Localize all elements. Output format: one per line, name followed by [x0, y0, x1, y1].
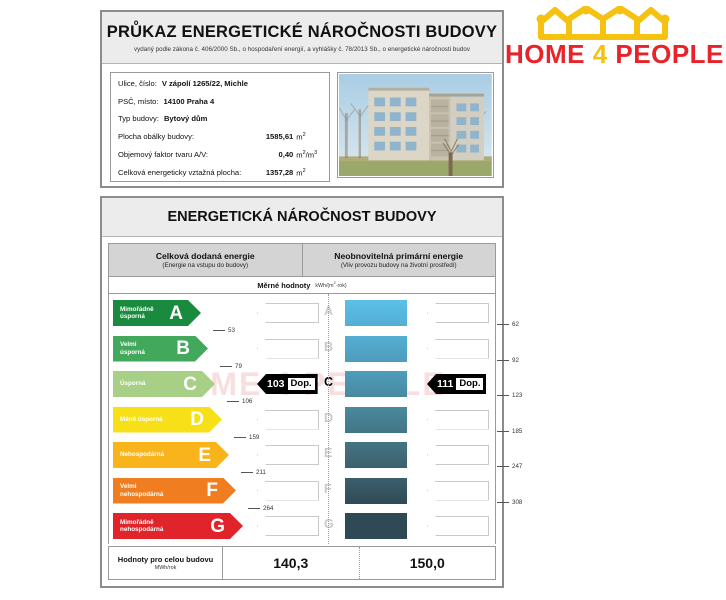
- boundary-tick: [234, 437, 246, 438]
- badge-value: 111: [437, 378, 453, 390]
- detail-row: Celková energeticky vztažná plocha:1357,…: [118, 168, 322, 178]
- boundary-left-1: 79: [220, 363, 242, 370]
- column-header-primary-energy: Neobnovitelná primární energie (Vliv pro…: [302, 243, 497, 277]
- energy-class-row: MimořádněúspornáAA: [109, 300, 495, 326]
- energy-class-label: Velmiúsporná: [113, 341, 176, 355]
- boundary-value: 247: [512, 463, 522, 470]
- boundary-tick: [497, 466, 509, 467]
- energy-class-label: Úsporná: [113, 380, 182, 387]
- brand-text: HOME 4 PEOPLE: [505, 39, 720, 70]
- specific-values-label: Měrné hodnoty: [257, 281, 310, 290]
- brand-logo: HOME 4 PEOPLE: [505, 6, 720, 72]
- result-badge-primary-energy: 111Dop.: [427, 374, 486, 394]
- energy-class-label: Mimořádněnehospodárná: [113, 519, 182, 533]
- detail-unit: m2: [296, 168, 322, 178]
- detail-label: Plocha obálky budovy:: [118, 132, 194, 141]
- boundary-right-2: 123: [497, 392, 522, 399]
- detail-value: 14100 Praha 4: [164, 97, 215, 106]
- footer-label-cell: Hodnoty pro celou budovu MWh/rok: [109, 547, 223, 579]
- boundary-right-1: 92: [497, 357, 519, 364]
- energy-class-label: Mimořádněúsporná: [113, 306, 169, 320]
- brand-prefix: HOME: [505, 39, 593, 69]
- boundary-tick: [497, 324, 509, 325]
- detail-value: 1357,28: [266, 168, 293, 177]
- energy-class-bar-c: ÚspornáC: [113, 371, 215, 397]
- energy-class-letter: A: [169, 304, 201, 323]
- result-slot-left-a: [257, 303, 319, 323]
- brand-suffix: PEOPLE: [608, 39, 724, 69]
- boundary-value: 308: [512, 499, 522, 506]
- energy-class-bar-g: MimořádněnehospodárnáG: [113, 513, 243, 539]
- boundary-value: 159: [249, 434, 259, 441]
- badge-value: 103: [267, 378, 285, 390]
- specific-values-row: Měrné hodnoty kWh/(m2·rok): [108, 277, 496, 294]
- document-title: PRŮKAZ ENERGETICKÉ NÁROČNOSTI BUDOVY: [107, 23, 497, 42]
- footer-value-delivered: 140,3: [223, 547, 360, 579]
- detail-unit: m2/m3: [296, 150, 322, 160]
- building-info-area: Ulice, číslo:V zápolí 1265/22, MichlePSČ…: [102, 64, 502, 188]
- energy-class-letter: F: [206, 481, 236, 500]
- boundary-tick: [241, 472, 253, 473]
- detail-label: Celková energeticky vztažná plocha:: [118, 168, 241, 177]
- energy-class-row: Méně úspornáDD: [109, 407, 495, 433]
- boundary-tick: [497, 431, 509, 432]
- detail-value: V zápolí 1265/22, Michle: [162, 79, 248, 88]
- detail-row: PSČ, místo:14100 Praha 4: [118, 97, 322, 106]
- energy-class-label: Nehospodárná: [113, 451, 182, 458]
- column-heading: Neobnovitelná primární energie: [334, 251, 463, 261]
- energy-panel-title: ENERGETICKÁ NÁROČNOST BUDOVY: [102, 198, 502, 237]
- primary-energy-bar-e: [345, 442, 407, 468]
- boundary-tick: [220, 366, 232, 367]
- boundary-tick: [497, 502, 509, 503]
- result-slot-right-f: [427, 481, 489, 501]
- energy-rating-panel: ENERGETICKÁ NÁROČNOST BUDOVY Celková dod…: [100, 196, 504, 588]
- primary-energy-bar-d: [345, 407, 407, 433]
- boundary-right-3: 185: [497, 428, 522, 435]
- badge-suffix: Dop.: [288, 378, 315, 390]
- result-slot-left-d: [257, 410, 319, 430]
- boundary-left-3: 159: [234, 434, 259, 441]
- energy-class-letter: E: [198, 446, 229, 465]
- result-slot-right-b: [427, 339, 489, 359]
- detail-label: Objemový faktor tvaru A/V:: [118, 150, 208, 159]
- energy-column-headers: Celková dodaná energie (Energie na vstup…: [108, 243, 496, 277]
- boundary-right-5: 308: [497, 499, 522, 506]
- boundary-value: 92: [512, 357, 519, 364]
- detail-label: Typ budovy:: [118, 114, 159, 123]
- energy-class-bar-a: MimořádněúspornáA: [113, 300, 201, 326]
- boundary-value: 264: [263, 505, 273, 512]
- certificate-header-panel: PRŮKAZ ENERGETICKÉ NÁROČNOSTI BUDOVY vyd…: [100, 10, 504, 188]
- boundary-tick: [497, 360, 509, 361]
- detail-value: 1585,61: [266, 132, 293, 141]
- boundary-value: 211: [256, 469, 266, 476]
- result-slot-left-b: [257, 339, 319, 359]
- detail-row: Ulice, číslo:V zápolí 1265/22, Michle: [118, 79, 322, 88]
- energy-class-letter: C: [183, 375, 215, 394]
- column-subheading: (Energie na vstupu do budovy): [162, 262, 248, 269]
- energy-class-letter: G: [210, 517, 243, 536]
- badge-suffix: Dop.: [456, 378, 483, 390]
- boundary-right-4: 247: [497, 463, 522, 470]
- boundary-left-0: 53: [213, 327, 235, 334]
- energy-class-row: NehospodárnáEE: [109, 442, 495, 468]
- primary-energy-bar-c: [345, 371, 407, 397]
- column-heading: Celková dodaná energie: [156, 251, 255, 261]
- detail-label: PSČ, místo:: [118, 97, 159, 106]
- crown-houses-icon: [533, 6, 693, 42]
- energy-class-letter: B: [176, 339, 208, 358]
- detail-label: Ulice, číslo:: [118, 79, 157, 88]
- footer-unit: MWh/rok: [155, 565, 177, 571]
- energy-class-bar-f: VelminehospodárnáF: [113, 478, 236, 504]
- boundary-left-5: 264: [248, 505, 273, 512]
- result-slot-left-e: [257, 445, 319, 465]
- energy-class-bar-b: VelmiúspornáB: [113, 336, 208, 362]
- whole-building-footer: Hodnoty pro celou budovu MWh/rok 140,3 1…: [108, 546, 496, 580]
- detail-row: Typ budovy:Bytový dům: [118, 114, 322, 123]
- column-subheading: (Vliv provozu budovy na životní prostřed…: [341, 262, 457, 269]
- column-header-delivered-energy: Celková dodaná energie (Energie na vstup…: [108, 243, 302, 277]
- boundary-value: 185: [512, 428, 522, 435]
- specific-values-unit: kWh/(m2·rok): [315, 281, 346, 289]
- footer-label: Hodnoty pro celou budovu: [118, 555, 213, 564]
- primary-energy-bar-a: [345, 300, 407, 326]
- boundary-value: 123: [512, 392, 522, 399]
- result-badge-delivered-energy: 103Dop.: [257, 374, 318, 394]
- energy-class-bar-e: NehospodárnáE: [113, 442, 229, 468]
- boundary-right-0: 62: [497, 321, 519, 328]
- boundary-left-2: 106: [227, 398, 252, 405]
- building-photo: [339, 74, 492, 176]
- certificate-title-bar: PRŮKAZ ENERGETICKÉ NÁROČNOSTI BUDOVY vyd…: [102, 12, 502, 64]
- result-slot-right-g: [427, 516, 489, 536]
- boundary-value: 53: [228, 327, 235, 334]
- energy-class-bar-d: Méně úspornáD: [113, 407, 222, 433]
- detail-row: Objemový faktor tvaru A/V:0,40m2/m3: [118, 150, 322, 160]
- boundary-value: 79: [235, 363, 242, 370]
- footer-value-primary: 150,0: [360, 547, 496, 579]
- boundary-tick: [248, 508, 260, 509]
- primary-energy-bar-b: [345, 336, 407, 362]
- building-photo-frame: [337, 72, 494, 178]
- brand-four: 4: [593, 39, 608, 69]
- boundary-left-4: 211: [241, 469, 266, 476]
- column-divider: [328, 294, 329, 544]
- building-details-table: Ulice, číslo:V zápolí 1265/22, MichlePSČ…: [110, 72, 330, 182]
- detail-value: 0,40: [279, 150, 294, 159]
- boundary-tick: [213, 330, 225, 331]
- energy-class-label: Méně úsporná: [113, 416, 182, 423]
- document-subtitle: vydaný podle zákona č. 406/2000 Sb., o h…: [134, 46, 470, 53]
- energy-class-letter: D: [190, 410, 222, 429]
- boundary-value: 106: [242, 398, 252, 405]
- result-slot-left-g: [257, 516, 319, 536]
- energy-scale-body: HOME 4 PEOPLE MimořádněúspornáAAVelmiúsp…: [108, 294, 496, 544]
- result-slot-right-d: [427, 410, 489, 430]
- energy-class-row: VelmiúspornáBB: [109, 336, 495, 362]
- primary-energy-bar-g: [345, 513, 407, 539]
- energy-class-row: MimořádněnehospodárnáGG: [109, 513, 495, 539]
- detail-unit: m2: [296, 132, 322, 142]
- result-slot-right-a: [427, 303, 489, 323]
- result-slot-left-f: [257, 481, 319, 501]
- boundary-tick: [227, 401, 239, 402]
- detail-value: Bytový dům: [164, 114, 207, 123]
- detail-row: Plocha obálky budovy:1585,61m2: [118, 132, 322, 142]
- result-slot-right-e: [427, 445, 489, 465]
- energy-class-row: VelminehospodárnáFF: [109, 478, 495, 504]
- boundary-tick: [497, 395, 509, 396]
- primary-energy-bar-f: [345, 478, 407, 504]
- energy-class-label: Velminehospodárná: [113, 483, 182, 497]
- boundary-value: 62: [512, 321, 519, 328]
